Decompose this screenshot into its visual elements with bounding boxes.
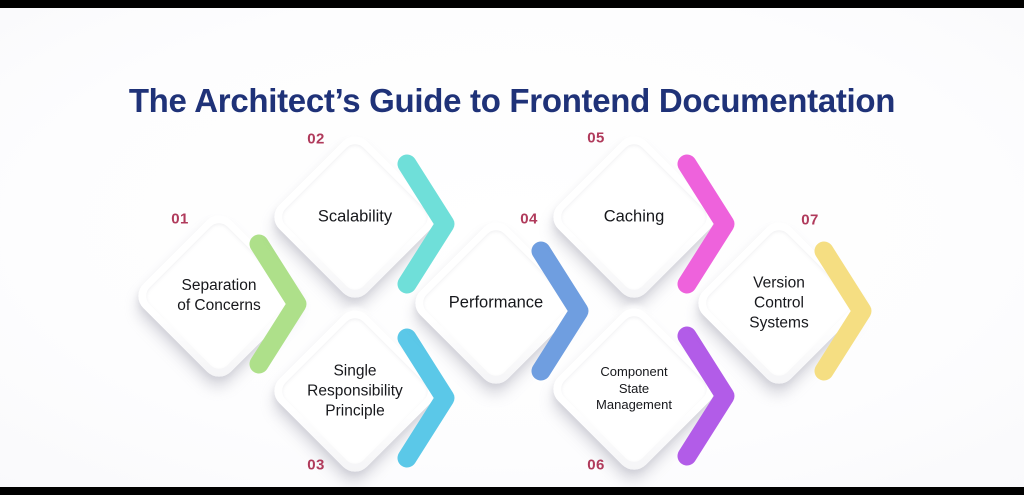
step-number-06: 06: [587, 457, 605, 474]
page-title: The Architect’s Guide to Frontend Docume…: [0, 82, 1024, 120]
step-number-05: 05: [587, 130, 605, 147]
step-number-04: 04: [520, 211, 538, 228]
chevron-right-yellow: [814, 241, 878, 381]
step-number-03: 03: [307, 457, 325, 474]
infographic-screenshot: The Architect’s Guide to Frontend Docume…: [0, 0, 1024, 495]
infographic-canvas: The Architect’s Guide to Frontend Docume…: [0, 8, 1024, 487]
step-number-07: 07: [801, 212, 819, 229]
step-number-01: 01: [171, 211, 189, 228]
step-number-02: 02: [307, 131, 325, 148]
